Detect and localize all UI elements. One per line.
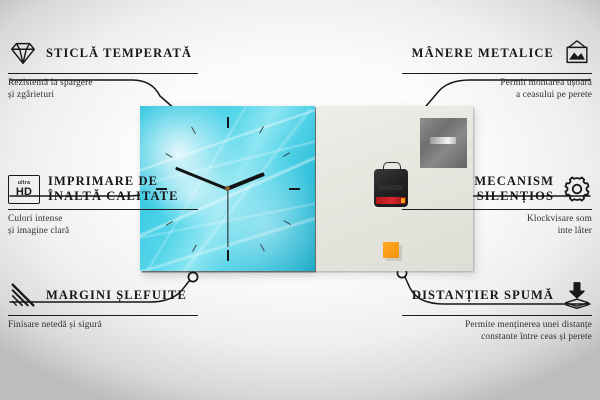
feature-foam-spacer: DISTANȚIER SPUMĂ Permite menținerea unei… xyxy=(402,278,592,344)
down-arrow-layer-icon xyxy=(562,280,592,310)
feature-subtitle: Finisare netedă și sigură xyxy=(8,319,198,331)
feature-subtitle: Klockvisare som inte låter xyxy=(402,213,592,238)
metal-hanger-closeup xyxy=(420,118,467,168)
feature-title: MÂNERE METALICE xyxy=(412,46,554,61)
feature-subtitle: Permite menținerea unei distanțe constan… xyxy=(402,319,592,344)
hd-badge-bottom: HD xyxy=(16,187,32,198)
diamond-icon xyxy=(8,38,38,68)
feature-polished-edges: MARGINI ȘLEFUITE Finisare netedă și sigu… xyxy=(8,278,198,331)
feature-title: MECANISM SILENȚIOS xyxy=(402,174,554,204)
picture-hanger-icon xyxy=(562,38,592,68)
polished-edges-icon xyxy=(8,280,38,310)
feature-title: MARGINI ȘLEFUITE xyxy=(46,288,187,303)
hanger-loop xyxy=(383,162,401,173)
feature-subtitle: Rezistentă la spargere și zgârieturi xyxy=(8,77,198,102)
divider xyxy=(402,315,592,316)
feature-silent-mechanism: MECANISM SILENȚIOS Klockvisare som inte … xyxy=(402,172,592,238)
divider xyxy=(8,209,198,210)
feature-title: DISTANȚIER SPUMĂ xyxy=(412,288,554,303)
infographic-canvas: STICLĂ TEMPERATĂ Rezistentă la spargere … xyxy=(0,0,600,400)
foam-spacer-pad xyxy=(383,242,399,258)
divider xyxy=(8,73,198,74)
hd-badge-top: ultra xyxy=(18,181,30,186)
clock-hour-hand xyxy=(227,172,266,191)
clock-center-cap xyxy=(225,186,230,191)
feature-title: IMPRIMARE DE ÎNALTĂ CALITATE xyxy=(48,174,198,204)
clock-second-hand xyxy=(227,189,228,247)
feature-subtitle: Culori intense și imagine clară xyxy=(8,213,198,238)
gear-icon xyxy=(562,174,592,204)
feature-subtitle: Permit montarea ușoară a ceasului pe per… xyxy=(402,77,592,102)
divider xyxy=(402,73,592,74)
feature-high-quality-print: ultra HD IMPRIMARE DE ÎNALTĂ CALITATE Cu… xyxy=(8,172,198,238)
feature-title: STICLĂ TEMPERATĂ xyxy=(46,46,192,61)
divider xyxy=(8,315,198,316)
feature-metal-handles: MÂNERE METALICE Permit montarea ușoară a… xyxy=(402,36,592,102)
divider xyxy=(402,209,592,210)
feature-tempered-glass: STICLĂ TEMPERATĂ Rezistentă la spargere … xyxy=(8,36,198,102)
ultra-hd-icon: ultra HD xyxy=(8,175,40,204)
